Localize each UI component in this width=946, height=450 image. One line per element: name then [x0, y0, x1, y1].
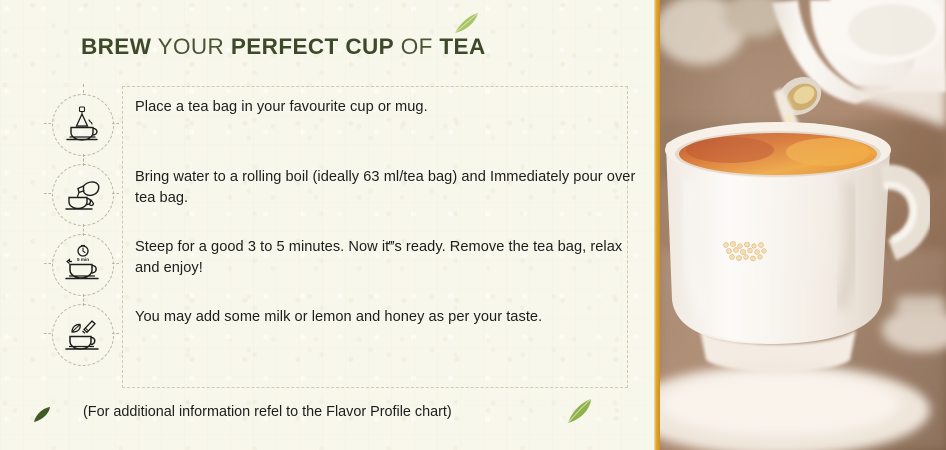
- list-item: Place a tea bag in your favourite cup or…: [46, 92, 646, 162]
- connector-tick-right: [112, 193, 119, 194]
- list-item-label: Place a tea bag in your favourite cup or…: [118, 92, 428, 118]
- teacup-with-tea-bag-icon: [52, 94, 114, 156]
- leaf-icon-top: [452, 11, 482, 42]
- steps-list: Place a tea bag in your favourite cup or…: [46, 92, 646, 372]
- connector-tick-left: [44, 123, 51, 124]
- step-icon-wrapper: [46, 162, 118, 232]
- list-item-label: Bring water to a rolling boil (ideally 6…: [118, 162, 646, 208]
- connector-tick-top: [83, 84, 85, 93]
- list-item: 5 min Steep for a good 3 to 5 minutes. N…: [46, 232, 646, 302]
- title-part-brew: BREW: [81, 34, 151, 59]
- svg-text:5 min: 5 min: [77, 257, 89, 262]
- leaf-icon-bottom: [563, 396, 597, 435]
- page-title: BREW YOUR PERFECT CUP OF TEA: [81, 34, 486, 60]
- connector-tick-right: [112, 263, 119, 264]
- title-part-your: YOUR: [158, 34, 225, 59]
- step-icon-wrapper: 5 min: [46, 232, 118, 302]
- title-part-of: OF: [401, 34, 433, 59]
- teacup-with-lemon-and-honey-dipper-icon: [52, 304, 114, 366]
- connector-tick-left: [44, 193, 51, 194]
- title-part-perfect-cup: PERFECT CUP: [231, 34, 394, 59]
- footer-note: (For additional information refel to the…: [83, 404, 452, 420]
- infographic-root: BREW YOUR PERFECT CUP OF TEA: [0, 0, 946, 450]
- left-content-panel: BREW YOUR PERFECT CUP OF TEA: [0, 0, 654, 450]
- connector-tick-right: [112, 333, 119, 334]
- list-item: Bring water to a rolling boil (ideally 6…: [46, 162, 646, 232]
- list-item: You may add some milk or lemon and honey…: [46, 302, 646, 372]
- connector-tick-left: [44, 333, 51, 334]
- list-item-label: Steep for a good 3 to 5 minutes. Now it‴…: [118, 232, 646, 278]
- tea-pouring-photo: [660, 0, 946, 450]
- list-item-label: You may add some milk or lemon and honey…: [118, 302, 542, 328]
- teacup-with-timer-icon: 5 min: [52, 234, 114, 296]
- connector-tick-left: [44, 263, 51, 264]
- step-icon-wrapper: [46, 302, 118, 372]
- kettle-pouring-into-cup-icon: [52, 164, 114, 226]
- step-icon-wrapper: [46, 92, 118, 162]
- connector-tick-right: [112, 123, 119, 124]
- leaf-icon-footer: [31, 404, 53, 431]
